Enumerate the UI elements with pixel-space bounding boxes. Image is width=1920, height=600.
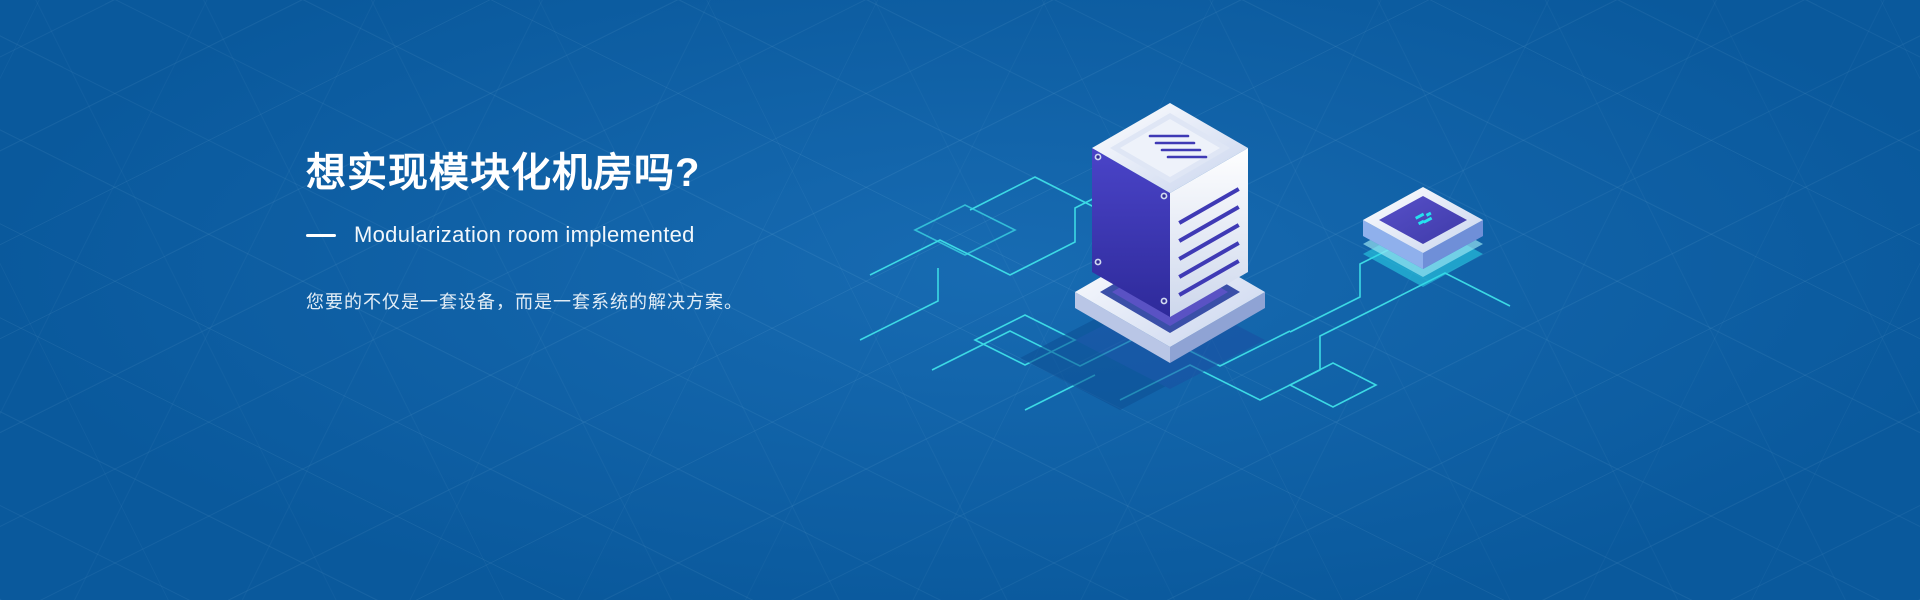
chip-module-right: [1363, 187, 1483, 287]
banner-subtitle-row: Modularization room implemented: [306, 222, 1066, 248]
accent-dash-icon: [306, 234, 336, 237]
banner-copy: 想实现模块化机房吗? Modularization room implement…: [306, 148, 1066, 332]
banner-subtitle: Modularization room implemented: [354, 222, 695, 248]
banner-headline: 想实现模块化机房吗?: [306, 148, 1066, 198]
server-rack: [1092, 103, 1248, 317]
hero-banner: 想实现模块化机房吗? Modularization room implement…: [0, 0, 1920, 600]
banner-description: 您要的不仅是一套设备，而是一套系统的解决方案。: [306, 288, 1066, 314]
